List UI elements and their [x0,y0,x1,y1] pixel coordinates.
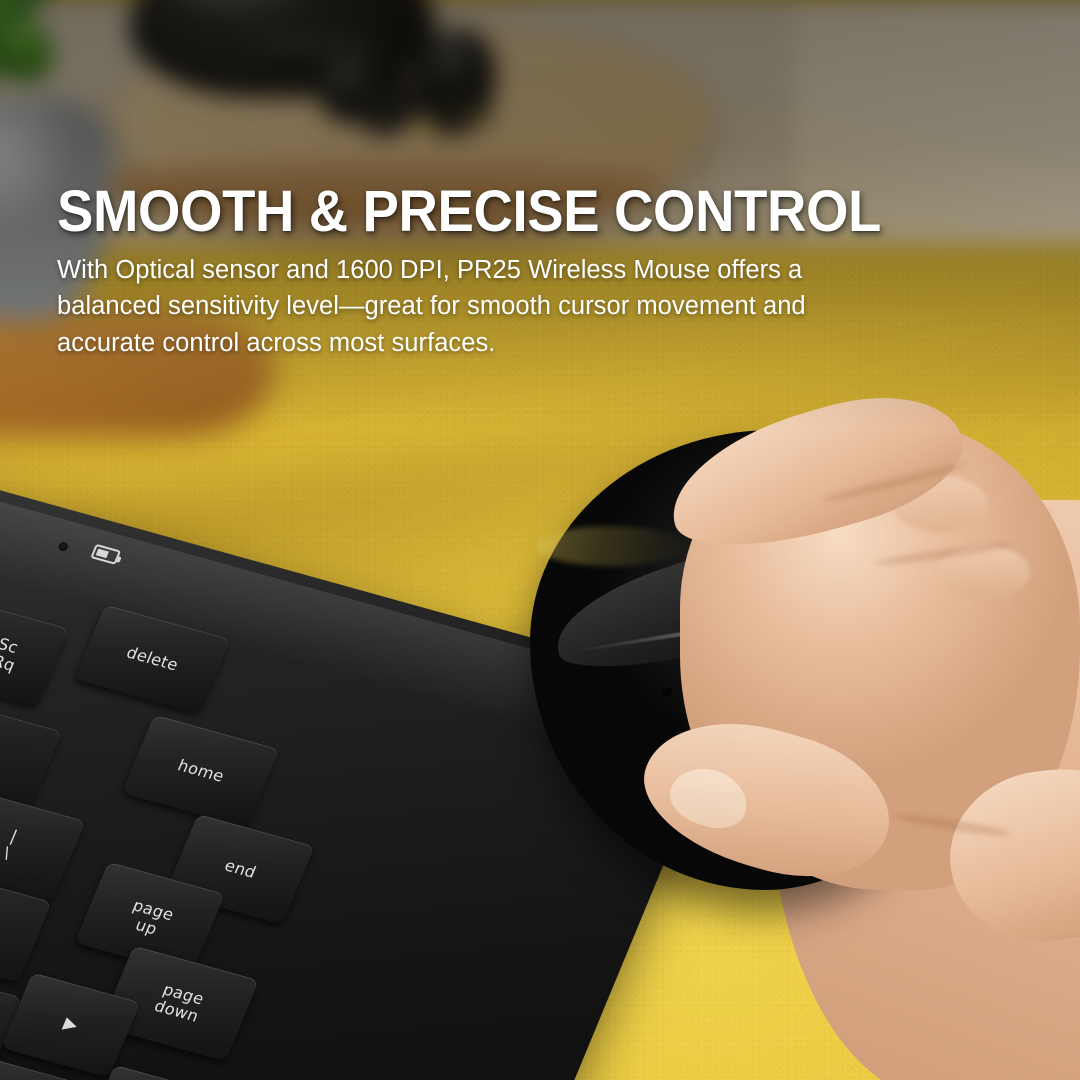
earbud-gold-contact [420,123,438,135]
key-[interactable]: | \ [0,789,85,902]
mouse-rim-light [536,526,686,566]
headline: SMOOTH & PRECISE CONTROL [57,182,828,241]
body-copy: With Optical sensor and 1600 DPI, PR25 W… [57,252,857,361]
copy-block: SMOOTH & PRECISE CONTROL With Optical se… [57,182,877,361]
earbud-gold-contact [466,112,482,123]
key-home[interactable]: home [122,715,280,828]
hand-and-mouse [520,300,1080,1080]
product-banner: A F12Prt Sc Sys Rqdeletehomebackend+ =} … [0,0,1080,1080]
key-delete[interactable]: delete [74,604,231,714]
key-prt-sc-sys-rq[interactable]: Prt Sc Sys Rq [0,594,70,707]
